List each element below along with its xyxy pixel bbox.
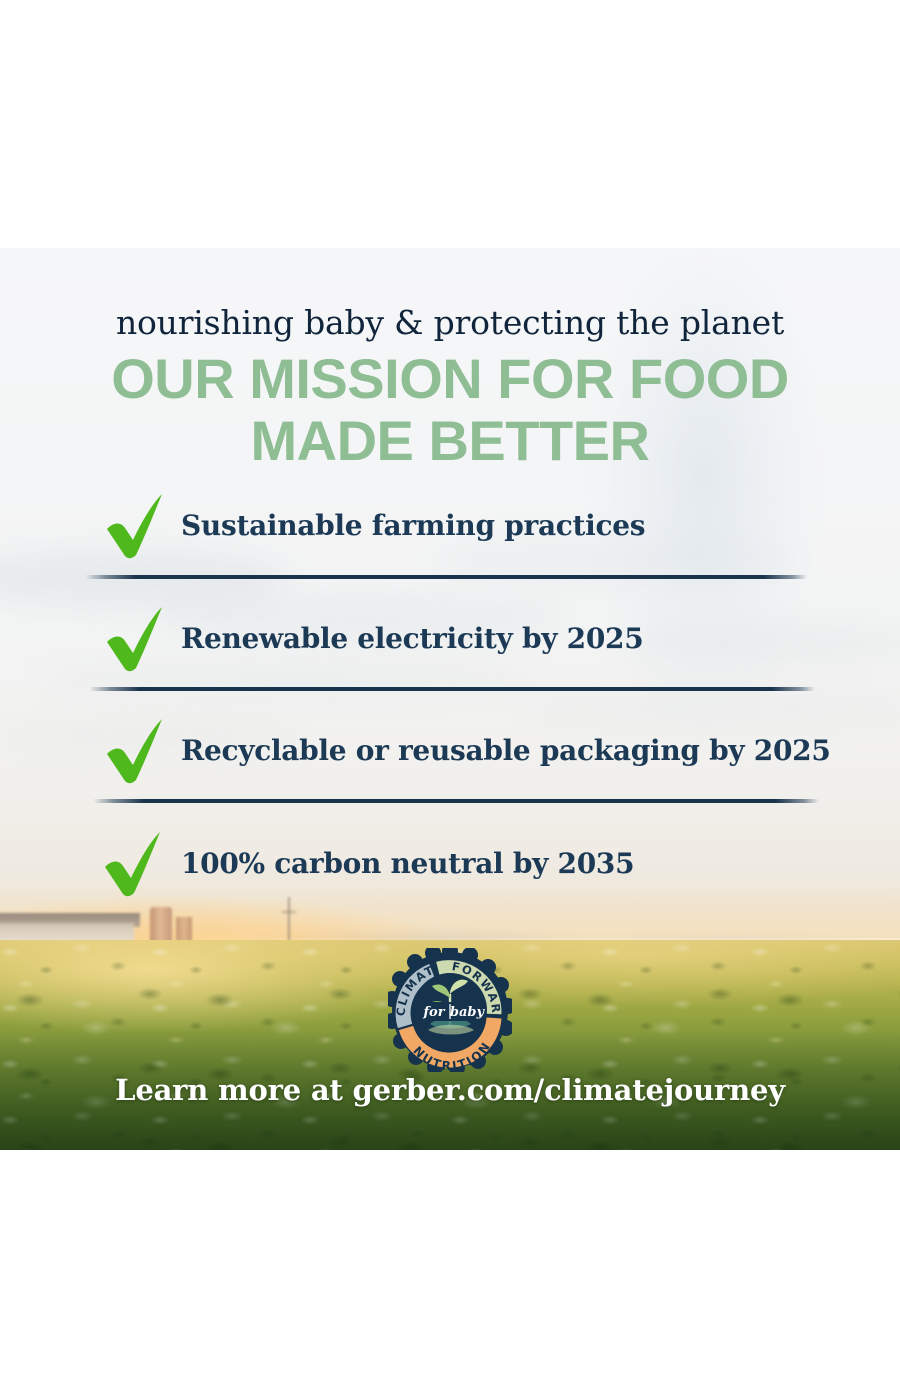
badge-for-label: for	[422, 1005, 445, 1020]
list-item-label: Sustainable farming practices	[181, 509, 645, 542]
headline-line-1: OUR MISSION FOR FOOD	[0, 348, 900, 410]
poster-creative: nourishing baby & protecting the planet …	[0, 248, 900, 1150]
list-item: Recyclable or reusable packaging by 2025	[0, 715, 900, 827]
checkmark-icon	[103, 716, 167, 786]
divider	[85, 575, 807, 579]
poster-page: nourishing baby & protecting the planet …	[0, 0, 900, 1400]
list-item-label: Recyclable or reusable packaging by 2025	[181, 734, 831, 767]
checkmark-icon	[103, 491, 167, 561]
list-item-label: Renewable electricity by 2025	[181, 622, 643, 655]
climate-forward-nutrition-badge: for baby CLIMATE FORWARD NUTRITION	[388, 948, 512, 1072]
checkmark-icon	[101, 829, 165, 899]
poster-subheading: nourishing baby & protecting the planet	[0, 303, 900, 342]
list-item-label: 100% carbon neutral by 2035	[181, 847, 634, 880]
page-title: OUR MISSION FOR FOOD MADE BETTER	[0, 348, 900, 472]
checkmark-icon	[103, 604, 167, 674]
learn-more-link[interactable]: Learn more at gerber.com/climatejourney	[0, 1073, 900, 1107]
commitments-checklist: Sustainable farming practices Renewable …	[0, 491, 900, 939]
headline-line-2: MADE BETTER	[0, 410, 900, 472]
divider	[93, 799, 819, 803]
list-item: Renewable electricity by 2025	[0, 603, 900, 715]
divider	[89, 687, 815, 691]
badge-center-ribbon: for baby	[418, 1002, 486, 1021]
list-item: Sustainable farming practices	[0, 491, 900, 603]
badge-baby-label: baby	[450, 1005, 486, 1020]
list-item: 100% carbon neutral by 2035	[0, 827, 900, 939]
